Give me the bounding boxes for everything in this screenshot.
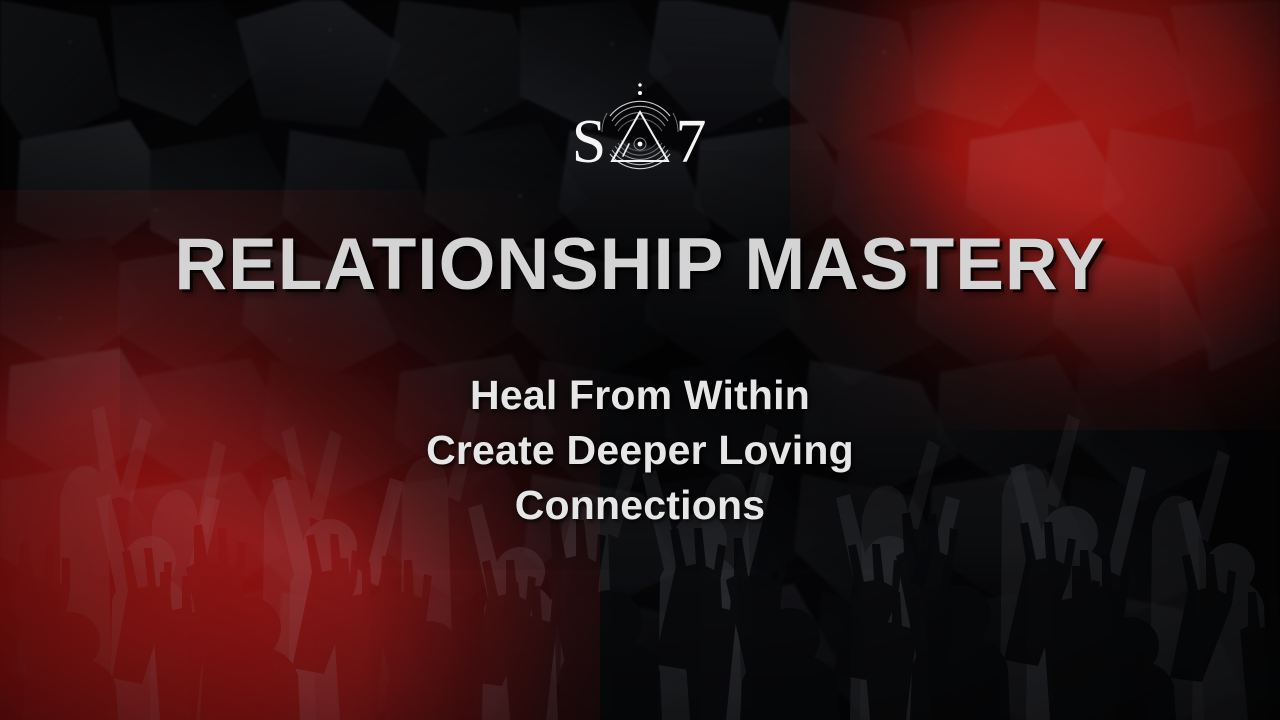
subtitle-line-2: Create Deeper Loving [0,423,1280,478]
logo-letter-s: S [572,108,606,176]
subtitle-block: Heal From Within Create Deeper Loving Co… [0,368,1280,533]
logo-letter-7: 7 [676,108,707,176]
logo-dot-lower [638,91,642,95]
promo-slide: S 7 RELATIONSHIP MASTERY Heal From Withi… [0,0,1280,720]
subtitle-line-3: Connections [0,478,1280,533]
logo-arcs-top [610,101,670,131]
subtitle-line-1: Heal From Within [0,368,1280,423]
sa7-logo-icon: S 7 [565,76,715,188]
logo-dot-upper [638,83,641,86]
brand-logo: S 7 [0,76,1280,188]
logo-center-dot [638,142,643,147]
page-title: RELATIONSHIP MASTERY [0,228,1280,301]
slide-content: S 7 RELATIONSHIP MASTERY Heal From Withi… [0,0,1280,720]
